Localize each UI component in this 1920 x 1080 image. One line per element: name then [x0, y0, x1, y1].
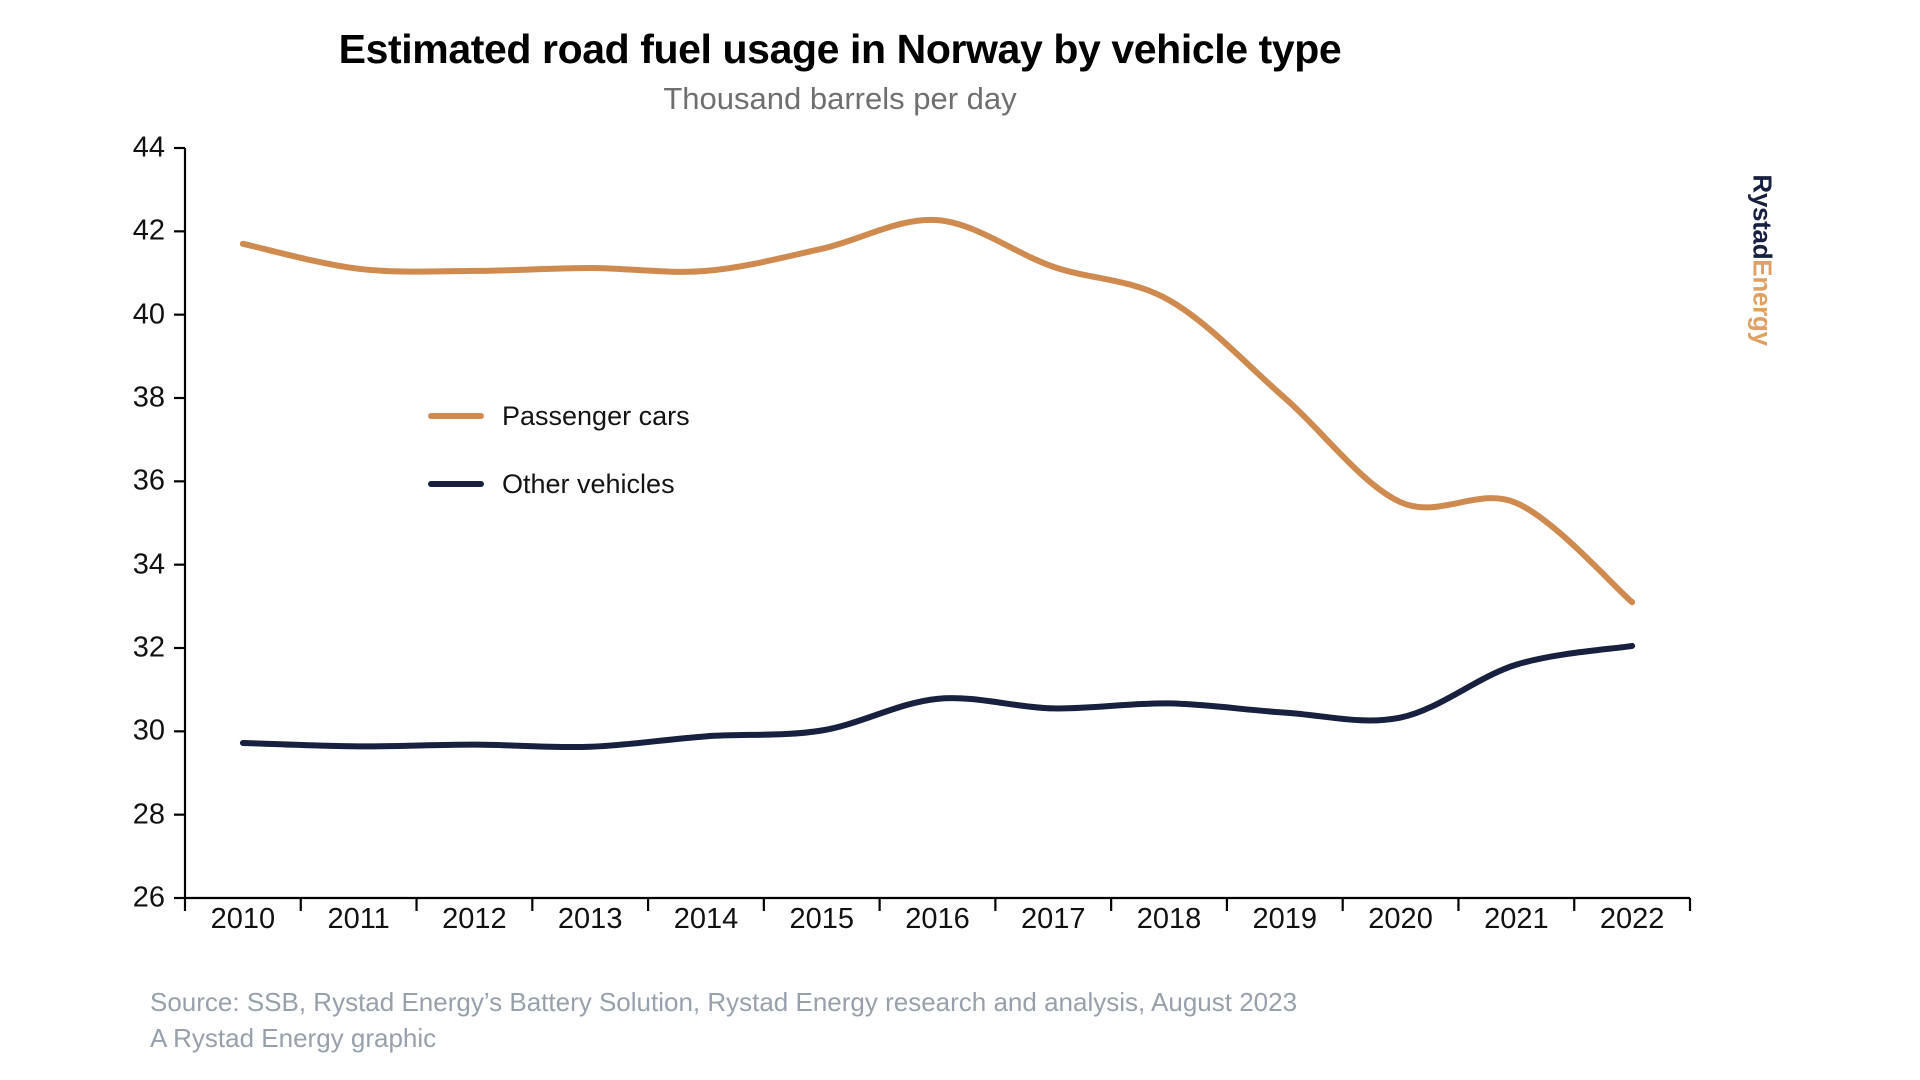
- series-line-other-vehicles: [243, 646, 1632, 747]
- legend-swatch-line-icon: [428, 481, 484, 487]
- x-axis-tick-labels: 2010201120122013201420152016201720182019…: [0, 903, 1920, 953]
- y-axis-tick-label: 28: [95, 798, 165, 831]
- x-axis-tick-label: 2011: [327, 903, 389, 936]
- chart-figure: Estimated road fuel usage in Norway by v…: [0, 0, 1920, 1080]
- rystad-energy-logo-text: RystadEnergy: [1747, 174, 1778, 345]
- y-axis-tick-label: 42: [95, 215, 165, 248]
- x-axis-tick-label: 2018: [1137, 903, 1202, 936]
- brand-name-secondary: Energy: [1748, 259, 1778, 345]
- y-axis-tick-label: 38: [95, 382, 165, 415]
- x-axis-tick-label: 2015: [789, 903, 854, 936]
- legend-item-other-vehicles[interactable]: Other vehicles: [428, 464, 848, 504]
- axes-group: [174, 148, 1690, 911]
- legend-item-passenger-cars[interactable]: Passenger cars: [428, 396, 848, 436]
- footer-block: Source: SSB, Rystad Energy’s Battery Sol…: [150, 985, 1650, 1057]
- x-axis-tick-label: 2022: [1600, 903, 1665, 936]
- x-axis-tick-label: 2016: [905, 903, 970, 936]
- x-axis-tick-label: 2012: [442, 903, 507, 936]
- y-axis-tick-label: 32: [95, 632, 165, 665]
- y-axis-tick-label: 44: [95, 132, 165, 165]
- legend-label: Passenger cars: [502, 401, 690, 432]
- x-axis-tick-label: 2010: [211, 903, 276, 936]
- x-axis-tick-label: 2020: [1368, 903, 1433, 936]
- y-axis-tick-label: 36: [95, 465, 165, 498]
- y-axis-tick-label: 30: [95, 715, 165, 748]
- x-axis-tick-label: 2021: [1484, 903, 1549, 936]
- source-line: Source: SSB, Rystad Energy’s Battery Sol…: [150, 985, 1650, 1021]
- chart-legend: Passenger cars Other vehicles: [428, 396, 848, 532]
- legend-swatch-line-icon: [428, 413, 484, 419]
- y-axis-tick-label: 40: [95, 298, 165, 331]
- y-axis-tick-label: 34: [95, 548, 165, 581]
- x-axis-tick-label: 2017: [1021, 903, 1086, 936]
- legend-label: Other vehicles: [502, 469, 675, 500]
- brand-name-primary: Rystad: [1748, 174, 1778, 259]
- x-axis-tick-label: 2014: [674, 903, 739, 936]
- graphic-credit-line: A Rystad Energy graphic: [150, 1021, 1650, 1057]
- x-axis-tick-label: 2019: [1253, 903, 1318, 936]
- x-axis-tick-label: 2013: [558, 903, 623, 936]
- rystad-energy-logo: RystadEnergy: [1742, 160, 1782, 360]
